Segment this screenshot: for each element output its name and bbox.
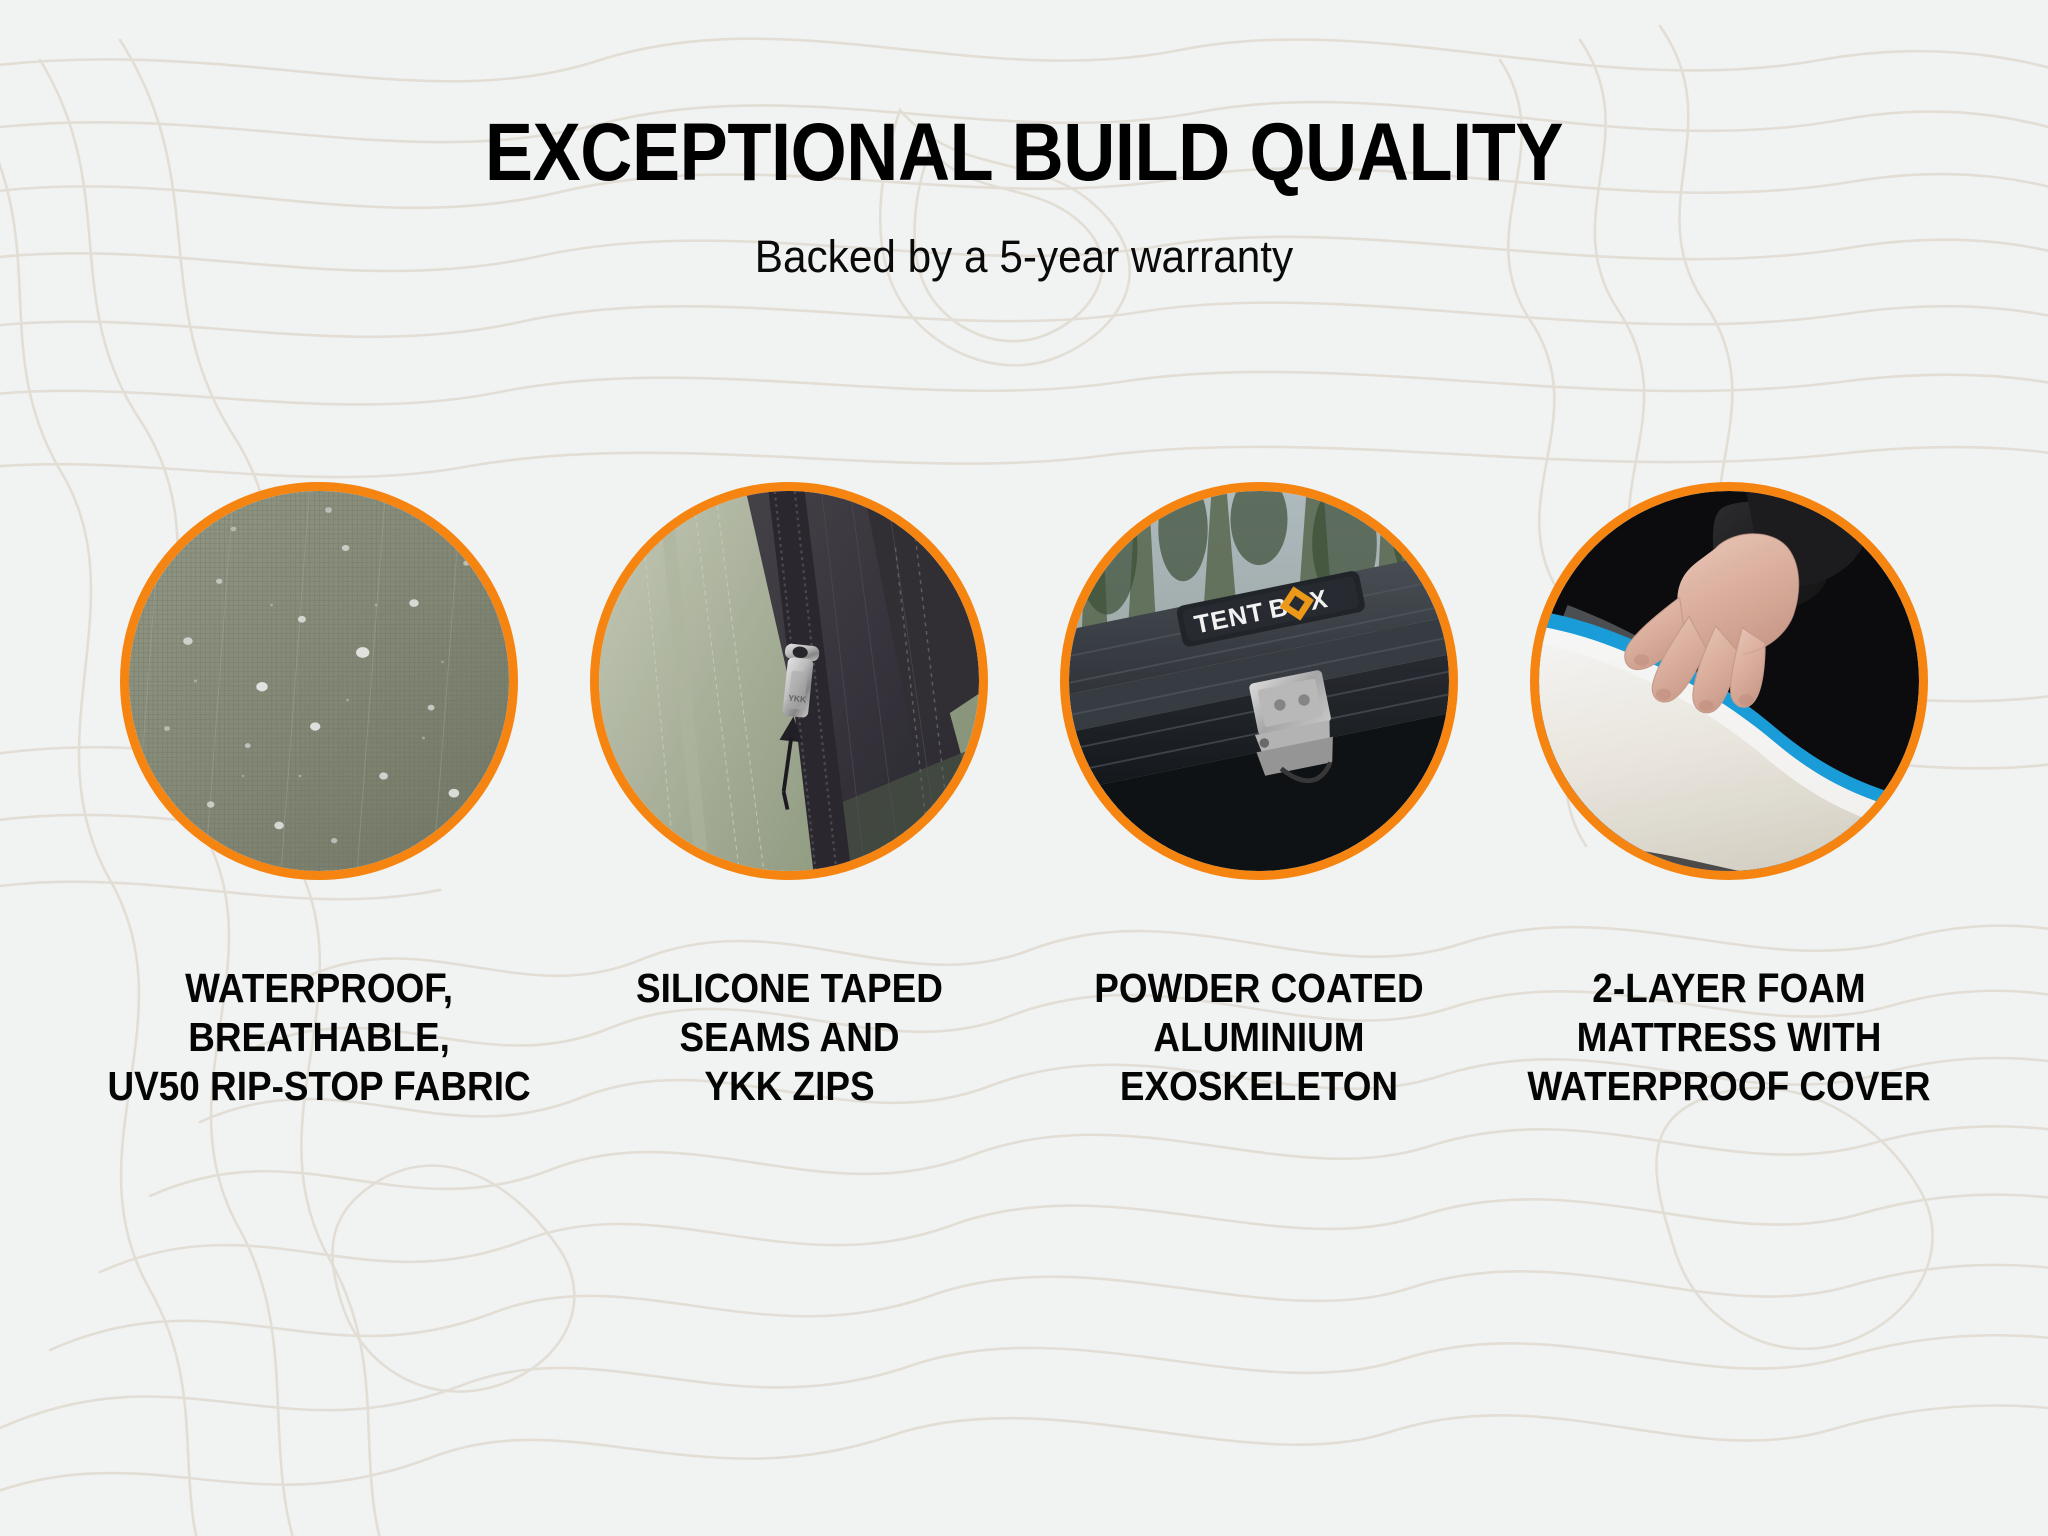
feature-image-circle: YKK: [590, 482, 988, 880]
feature-caption: SILICONE TAPED SEAMS AND YKK ZIPS: [636, 964, 943, 1112]
page-title: EXCEPTIONAL BUILD QUALITY: [123, 112, 1925, 194]
fabric-water-beading-photo: [129, 491, 509, 871]
feature-caption: POWDER COATED ALUMINIUM EXOSKELETON: [1094, 964, 1423, 1112]
feature-caption: 2-LAYER FOAM MATTRESS WITH WATERPROOF CO…: [1527, 964, 1930, 1112]
aluminium-exoskeleton-photo: TENT B X: [1069, 491, 1449, 871]
caption-line: SEAMS AND: [636, 1013, 943, 1062]
caption-line: SILICONE TAPED: [636, 964, 943, 1013]
feature-image-circle: [120, 482, 518, 880]
feature-item-aluminium-exoskeleton: TENT B X: [1024, 482, 1494, 1112]
infographic-page: EXCEPTIONAL BUILD QUALITY Backed by a 5-…: [0, 0, 2048, 1536]
header: EXCEPTIONAL BUILD QUALITY Backed by a 5-…: [0, 0, 2048, 279]
foam-mattress-photo: [1539, 491, 1919, 871]
caption-line: 2-LAYER FOAM: [1527, 964, 1930, 1013]
caption-line: YKK ZIPS: [636, 1062, 943, 1111]
caption-line: MATTRESS WITH: [1527, 1013, 1930, 1062]
caption-line: WATERPROOF,: [107, 964, 530, 1013]
caption-line: ALUMINIUM: [1094, 1013, 1423, 1062]
caption-line: BREATHABLE,: [107, 1013, 530, 1062]
caption-line: WATERPROOF COVER: [1527, 1062, 1930, 1111]
caption-line: EXOSKELETON: [1094, 1062, 1423, 1111]
feature-item-foam-mattress: 2-LAYER FOAM MATTRESS WITH WATERPROOF CO…: [1494, 482, 1964, 1112]
caption-line: POWDER COATED: [1094, 964, 1423, 1013]
feature-image-circle: TENT B X: [1060, 482, 1458, 880]
caption-line: UV50 RIP-STOP FABRIC: [107, 1062, 530, 1111]
feature-item-waterproof-fabric: WATERPROOF, BREATHABLE, UV50 RIP-STOP FA…: [84, 482, 554, 1112]
page-subtitle: Backed by a 5-year warranty: [61, 234, 1986, 279]
feature-image-circle: [1530, 482, 1928, 880]
feature-caption: WATERPROOF, BREATHABLE, UV50 RIP-STOP FA…: [107, 964, 530, 1112]
zipper-taped-seam-photo: YKK: [599, 491, 979, 871]
feature-item-taped-seams: YKK SILICONE TAPED SEAMS AND YKK ZIPS: [554, 482, 1024, 1112]
feature-row: WATERPROOF, BREATHABLE, UV50 RIP-STOP FA…: [0, 482, 2048, 1112]
